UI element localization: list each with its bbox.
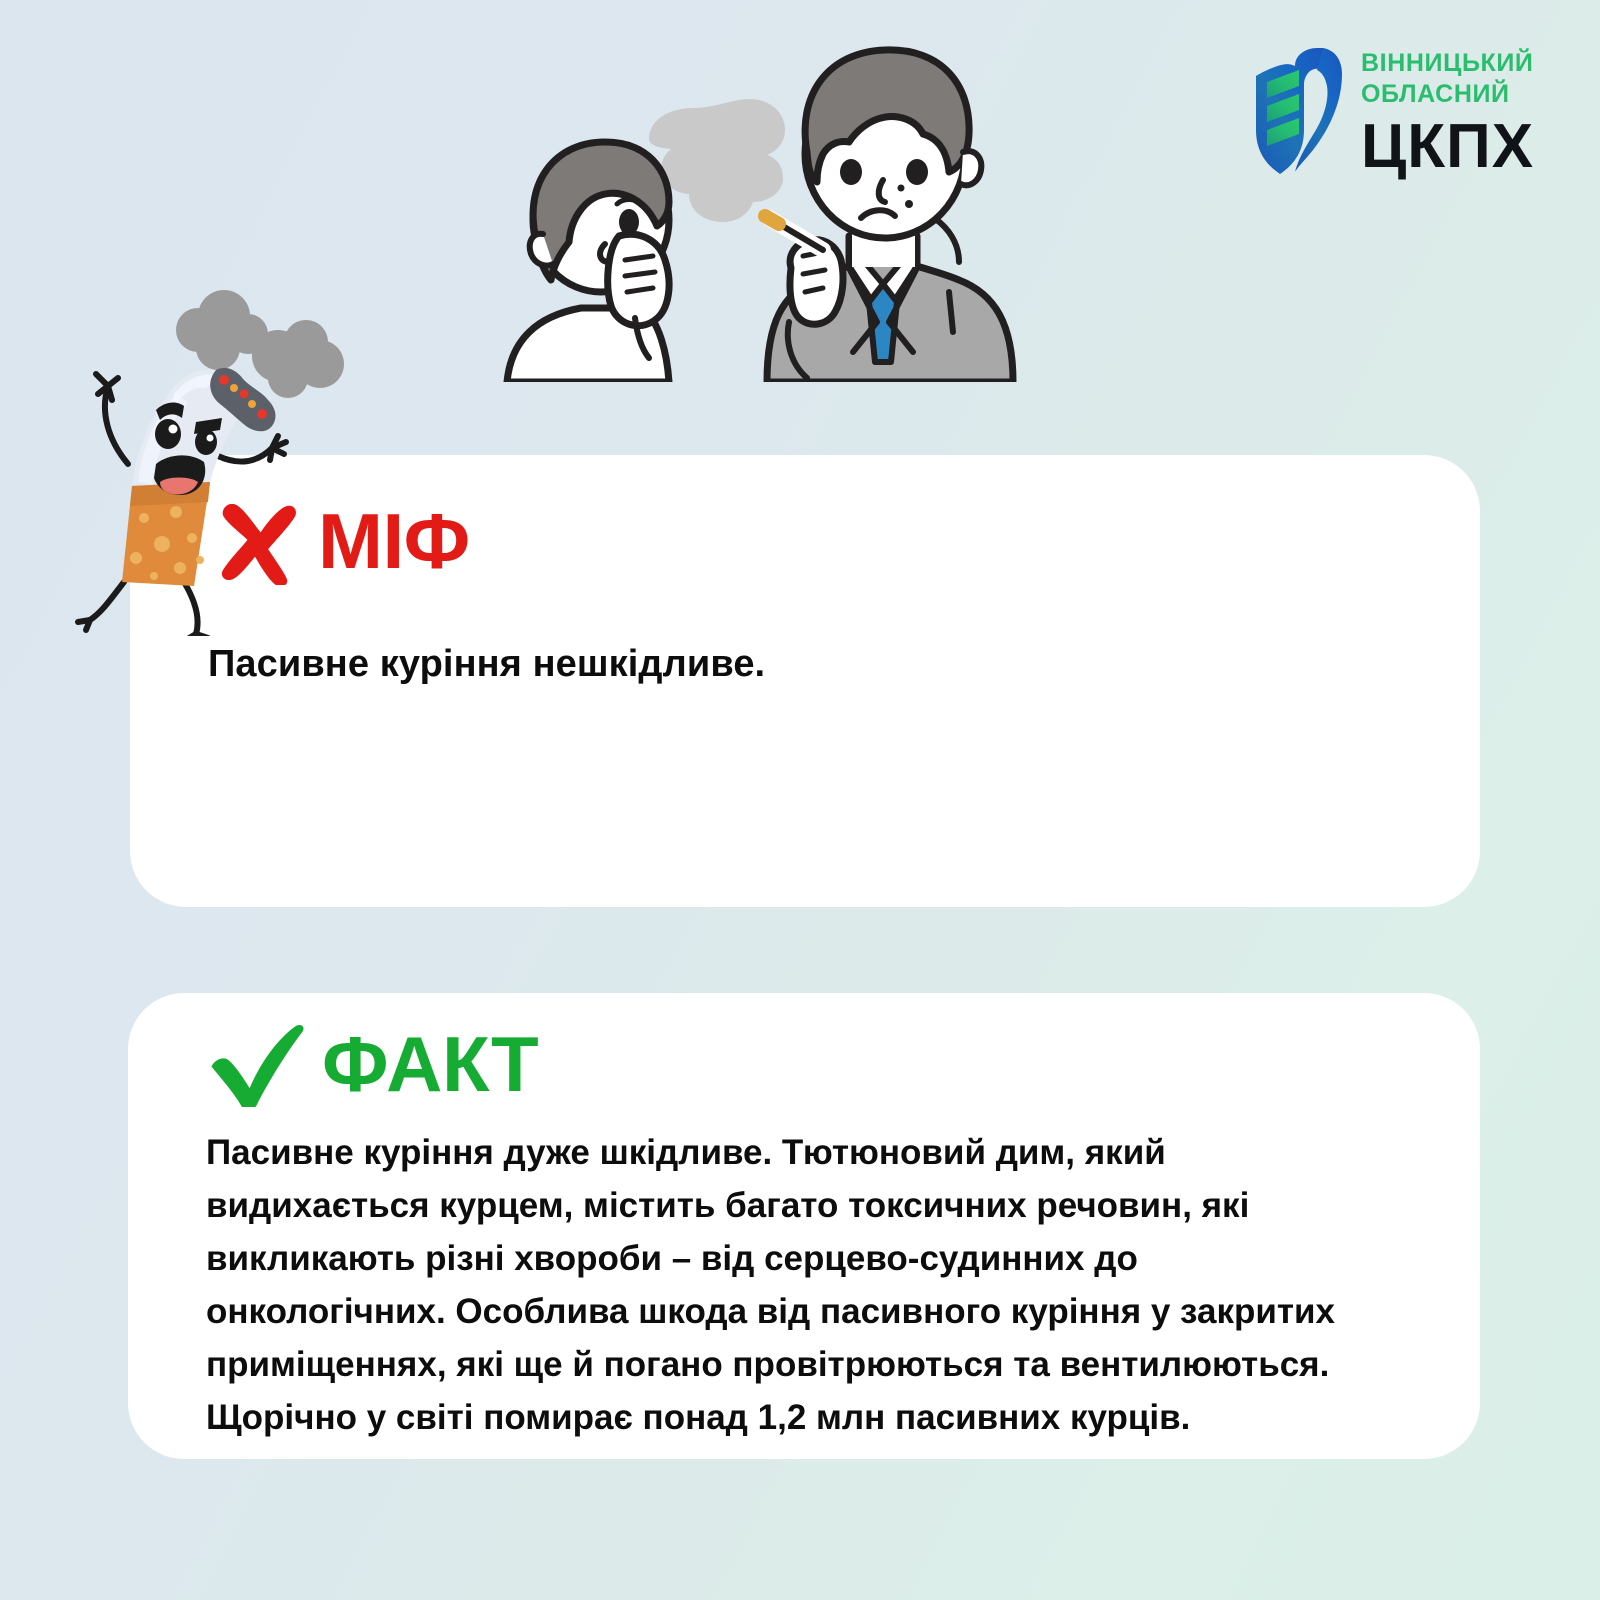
fact-badge: ФАКТ bbox=[206, 1015, 538, 1112]
fact-line: онкологічних. Особлива шкода від пасивно… bbox=[206, 1285, 1404, 1338]
secondhand-smoking-illustration bbox=[497, 22, 1037, 382]
fact-card: ФАКТ Пасивне куріння дуже шкідливе. Тютю… bbox=[128, 993, 1480, 1459]
fact-line: Пасивне куріння дуже шкідливе. Тютюновий… bbox=[206, 1126, 1404, 1179]
infographic-poster: ВІННИЦЬКИЙ ОБЛАСНИЙ ЦКПХ bbox=[0, 0, 1600, 1600]
organization-logo: ВІННИЦЬКИЙ ОБЛАСНИЙ ЦКПХ bbox=[1247, 42, 1547, 182]
check-mark-icon bbox=[206, 1015, 306, 1112]
logo-acronym: ЦКПХ bbox=[1361, 114, 1547, 180]
fact-label: ФАКТ bbox=[322, 1025, 538, 1103]
fact-line: видихається курцем, містить багато токси… bbox=[206, 1179, 1404, 1232]
logo-line-2: ОБЛАСНИЙ bbox=[1361, 79, 1547, 110]
fact-line: викликають різні хвороби – від серцево-с… bbox=[206, 1232, 1404, 1285]
fact-line: Щорічно у світі помирає понад 1,2 млн па… bbox=[206, 1391, 1404, 1444]
angry-cigarette-character bbox=[72, 276, 372, 636]
myth-statement: Пасивне куріння нешкідливе. bbox=[208, 640, 1388, 688]
logo-wordmark: ВІННИЦЬКИЙ ОБЛАСНИЙ ЦКПХ bbox=[1361, 48, 1547, 180]
fact-line: приміщеннях, які ще й погано провітрюють… bbox=[206, 1338, 1404, 1391]
logo-line-1: ВІННИЦЬКИЙ bbox=[1361, 48, 1547, 79]
fact-paragraph: Пасивне куріння дуже шкідливе. Тютюновий… bbox=[206, 1126, 1404, 1444]
shield-heart-logo-mark bbox=[1247, 46, 1343, 176]
